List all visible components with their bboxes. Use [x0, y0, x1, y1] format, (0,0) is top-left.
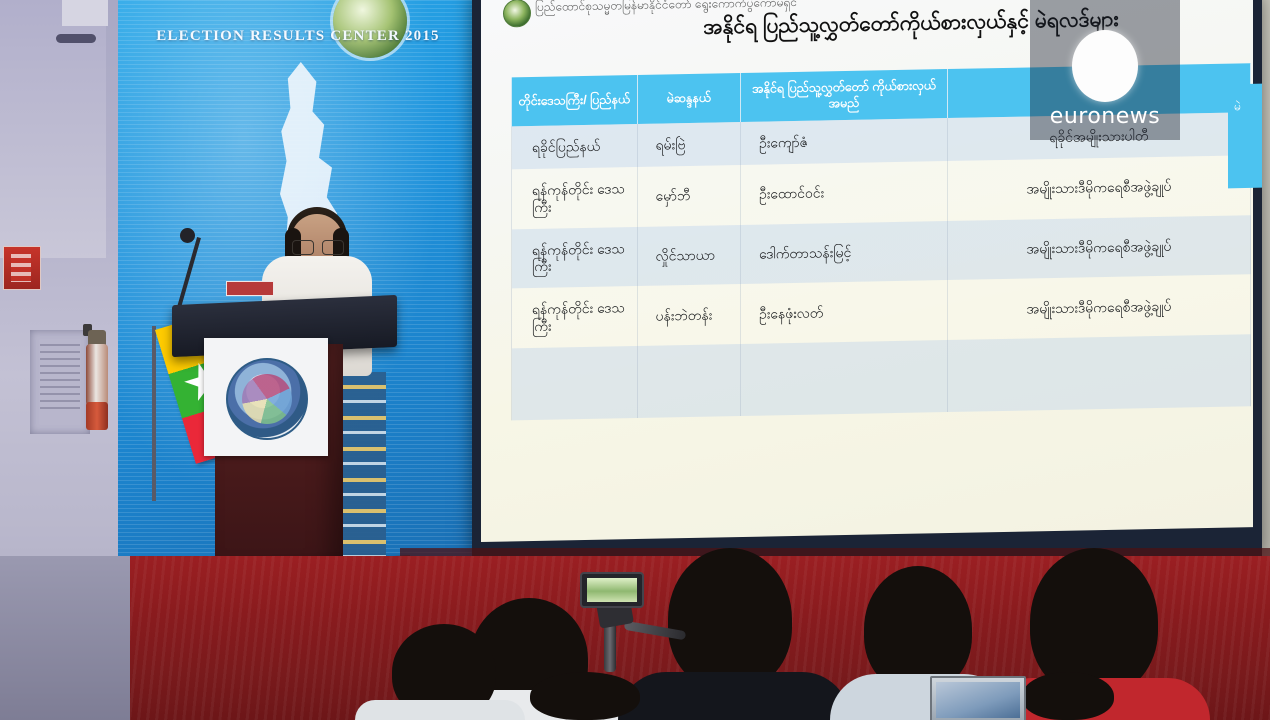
door-top-panel — [62, 0, 108, 26]
table-row-empty — [512, 334, 1251, 420]
audience-member-shoulders — [355, 700, 525, 720]
cell-region: ရန်ကုန်တိုင်း ဒေသကြီး — [512, 286, 638, 348]
cell-party: အမျိုးသားဒီမိုကရေစီအဖွဲ့ချုပ် — [947, 155, 1250, 220]
euronews-circle-logo-icon — [1072, 30, 1138, 102]
cell-candidate: ဒေါက်တာသန်းမြင့် — [741, 221, 948, 285]
broadcast-frame: ELECTION RESULTS CENTER 2015 ပြည်ထောင်စု… — [0, 0, 1270, 720]
smartphone-recording — [580, 572, 644, 608]
cell-constituency: မှော်ဘီ — [637, 165, 740, 227]
cell-constituency: လှိုင်သာယာ — [637, 225, 740, 287]
lectern-sign — [204, 338, 328, 456]
floor-left-area — [0, 556, 130, 720]
cell-candidate: ဦးထောင်ဝင်း — [741, 161, 948, 225]
euronews-wordmark: euronews — [1030, 104, 1180, 129]
audience-laptop — [930, 676, 1026, 720]
door-handle — [56, 34, 96, 43]
audience-member-shoulders — [618, 672, 850, 720]
cell-constituency: ရမ်းဗြဲ — [637, 122, 740, 167]
backdrop-title: ELECTION RESULTS CENTER 2015 — [118, 28, 478, 45]
flag-pole — [152, 326, 156, 501]
col-header-region: တိုင်းဒေသကြီး/ ပြည်နယ် — [512, 75, 638, 127]
room-door — [0, 0, 106, 258]
cell-party: အမျိုးသားဒီမိုကရေစီအဖွဲ့ချုပ် — [947, 215, 1250, 280]
cell-empty — [947, 334, 1250, 412]
cell-region: ရန်ကုန်တိုင်း ဒေသကြီး — [512, 167, 638, 229]
fire-extinguisher-icon — [82, 322, 114, 434]
col-header-candidate: အနိုင်ရ ပြည်သူ့လွှတ်တော် ကိုယ်စားလှယ်အမည… — [741, 69, 948, 122]
commission-seal-icon — [226, 358, 308, 440]
cell-region: ရခိုင်ပြည်နယ် — [512, 124, 638, 169]
euronews-watermark: euronews — [1030, 0, 1180, 140]
speaker-glasses-icon — [292, 240, 344, 253]
cell-empty — [741, 340, 948, 416]
cell-empty — [512, 346, 638, 420]
audience-member-head — [530, 672, 640, 720]
cell-empty — [637, 344, 740, 418]
podium-microphone — [180, 228, 195, 243]
col-header-votes: မဲ — [1228, 84, 1262, 189]
exit-sign — [3, 246, 41, 290]
cell-constituency: ပန်းဘဲတန်း — [637, 284, 740, 346]
cell-party: အမျိုးသားဒီမိုကရေစီအဖွဲ့ချုပ် — [947, 274, 1250, 339]
wall-notice-board — [30, 330, 90, 434]
commission-seal-icon — [503, 0, 531, 28]
cell-region: ရန်ကုန်တိုင်း ဒေသကြီး — [512, 227, 638, 289]
audience-member-head — [668, 548, 792, 690]
commission-seal-icon — [333, 0, 407, 58]
audience-member-head — [1022, 672, 1114, 720]
cell-candidate: ဦးကျော်ဇံ — [741, 118, 948, 165]
cell-candidate: ဦးနေဖုံးလတ် — [741, 280, 948, 344]
col-header-constituency: မဲဆန္ဒနယ် — [637, 73, 740, 124]
speaker-name-badge — [226, 281, 274, 296]
